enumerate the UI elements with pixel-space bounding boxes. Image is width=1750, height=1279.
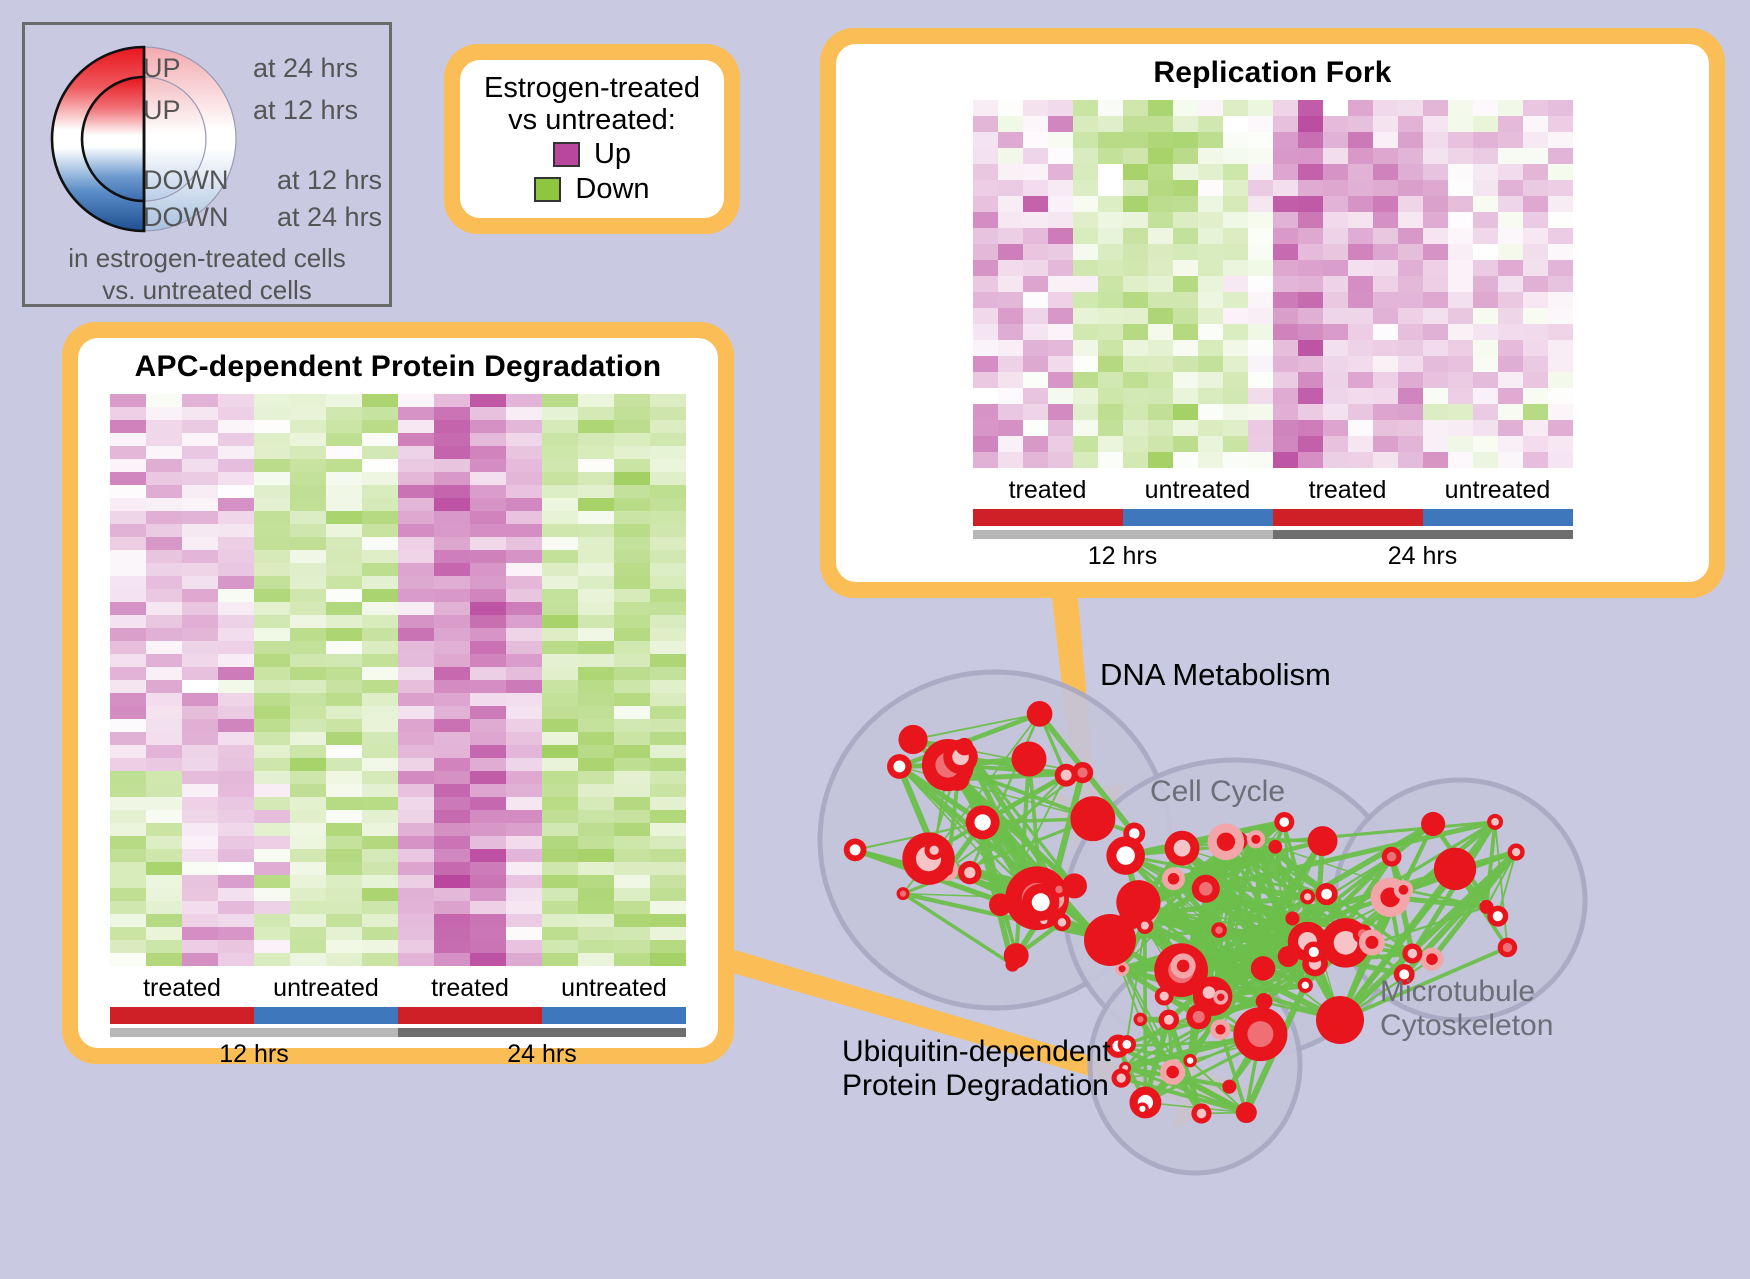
heatmap-cell — [973, 356, 998, 372]
heatmap-cell — [578, 940, 614, 953]
heatmap-cell — [470, 576, 506, 589]
network-node-core — [1119, 965, 1126, 972]
heatmap-cell — [470, 745, 506, 758]
heatmap-cell — [1323, 164, 1348, 180]
heatmap-cell — [1023, 404, 1048, 420]
heatmap-cell — [1098, 180, 1123, 196]
heatmap-cell — [1473, 340, 1498, 356]
heatmap-cell — [1273, 420, 1298, 436]
heatmap-cell — [398, 589, 434, 602]
heatmap-cell — [1398, 196, 1423, 212]
heatmap-cell — [506, 680, 542, 693]
network-node-core — [1141, 922, 1149, 930]
heatmap-cell — [1298, 180, 1323, 196]
heatmap-cell — [470, 667, 506, 680]
heatmap-cell — [614, 446, 650, 459]
heatmap-cell — [1223, 132, 1248, 148]
heatmap-cell — [542, 719, 578, 732]
heatmap-cell — [1023, 164, 1048, 180]
heatmap-cell — [254, 901, 290, 914]
heatmap-cell — [542, 407, 578, 420]
heatmap-cell — [650, 394, 686, 407]
heatmap-cell — [506, 693, 542, 706]
heatmap-cell — [1198, 100, 1223, 116]
heatmap-cell — [998, 420, 1023, 436]
heatmap-cell — [470, 810, 506, 823]
heatmap-cell — [470, 862, 506, 875]
network-node-core — [1077, 767, 1087, 777]
legend-item-up: Up — [553, 138, 631, 171]
heatmap-cell — [1448, 180, 1473, 196]
heatmap-cell — [1523, 388, 1548, 404]
heatmap-cell — [146, 836, 182, 849]
heatmap-cell — [362, 498, 398, 511]
up-down-legend-title-line2: vs untreated: — [484, 104, 700, 136]
heatmap-cell — [973, 324, 998, 340]
treatment-group-bar — [1123, 509, 1273, 526]
heatmap-cell — [1098, 372, 1123, 388]
heatmap-cell — [578, 758, 614, 771]
heatmap-cell — [434, 758, 470, 771]
heatmap-cell — [1123, 436, 1148, 452]
heatmap-cell — [218, 550, 254, 563]
heatmap-cell — [1048, 244, 1073, 260]
heatmap-cell — [1048, 372, 1073, 388]
treatment-group-label: untreated — [542, 974, 686, 1003]
heatmap-cell — [362, 914, 398, 927]
heatmap-cell — [506, 862, 542, 875]
heatmap-cell — [434, 472, 470, 485]
heatmap-cell — [1523, 164, 1548, 180]
heatmap-cell — [1498, 244, 1523, 260]
heatmap-cell — [1023, 340, 1048, 356]
heatmap-cell — [1098, 308, 1123, 324]
heatmap-cell — [1298, 212, 1323, 228]
heatmap-cell — [362, 732, 398, 745]
heatmap-cell — [326, 602, 362, 615]
heatmap-cell — [1423, 148, 1448, 164]
heatmap-cell — [218, 836, 254, 849]
network-node-core — [850, 844, 861, 855]
heatmap-cell — [614, 654, 650, 667]
heatmap-cell — [146, 615, 182, 628]
heatmap-cell — [146, 784, 182, 797]
heatmap-cell — [110, 667, 146, 680]
heatmap-cell — [650, 797, 686, 810]
heatmap-cell — [110, 771, 146, 784]
heatmap-cell — [398, 862, 434, 875]
heatmap-cell — [1123, 196, 1148, 212]
heatmap-cell — [1473, 324, 1498, 340]
heatmap-cell — [542, 641, 578, 654]
heatmap-cell — [1098, 244, 1123, 260]
heatmap-cell — [1148, 356, 1173, 372]
heatmap-cell — [434, 524, 470, 537]
heatmap-cell — [506, 394, 542, 407]
heatmap-cell — [434, 706, 470, 719]
heatmap-cell — [1173, 292, 1198, 308]
network-node-core — [1251, 835, 1260, 844]
heatmap-cell — [1298, 356, 1323, 372]
network-node-core — [1164, 1015, 1174, 1025]
heatmap-cell — [182, 576, 218, 589]
heatmap-cell — [1323, 260, 1348, 276]
heatmap-cell — [1323, 436, 1348, 452]
heatmap-cell — [290, 485, 326, 498]
heatmap-cell — [1323, 100, 1348, 116]
heatmap-cell — [1523, 244, 1548, 260]
heatmap-cell — [614, 706, 650, 719]
heatmap-cell — [1098, 404, 1123, 420]
network-edge — [1145, 926, 1146, 1103]
heatmap-cell — [614, 927, 650, 940]
heatmap-cell — [362, 849, 398, 862]
heatmap-cell — [290, 940, 326, 953]
treatment-group-label: treated — [1273, 476, 1423, 505]
heatmap-cell — [326, 459, 362, 472]
heatmap-cell — [326, 550, 362, 563]
heatmap-cell — [973, 340, 998, 356]
heatmap-cell — [1223, 452, 1248, 468]
legend-caption-line-1: in estrogen-treated cells — [25, 243, 389, 274]
heatmap-cell — [326, 407, 362, 420]
heatmap-cell — [434, 771, 470, 784]
network-node — [1316, 996, 1364, 1044]
heatmap-cell — [1173, 404, 1198, 420]
network-node-core — [1399, 885, 1409, 895]
heatmap-cell — [506, 940, 542, 953]
heatmap-cell — [506, 901, 542, 914]
heatmap-cell — [650, 693, 686, 706]
heatmap-cell — [614, 524, 650, 537]
heatmap-cell — [1373, 292, 1398, 308]
heatmap-cell — [1523, 196, 1548, 212]
heatmap-cell — [470, 706, 506, 719]
heatmap-cell — [434, 953, 470, 966]
heatmap-cell — [1173, 244, 1198, 260]
heatmap-cell — [542, 823, 578, 836]
heatmap-cell — [1098, 228, 1123, 244]
heatmap-cell — [362, 771, 398, 784]
heatmap-cell — [1023, 196, 1048, 212]
network-node-core — [1197, 1109, 1207, 1119]
heatmap-cell — [998, 340, 1023, 356]
heatmap-cell — [326, 706, 362, 719]
heatmap-cell — [254, 407, 290, 420]
legend-down-24-label: DOWN — [143, 202, 228, 233]
heatmap-cell — [1323, 132, 1348, 148]
network-node — [1012, 742, 1047, 777]
heatmap-cell — [1123, 164, 1148, 180]
heatmap-cell — [470, 719, 506, 732]
heatmap-cell — [506, 524, 542, 537]
heatmap-cell — [398, 524, 434, 537]
heatmap-cell — [434, 615, 470, 628]
heatmap-cell — [1423, 260, 1448, 276]
heatmap-cell — [650, 485, 686, 498]
heatmap-cell — [1098, 116, 1123, 132]
treatment-group-label: untreated — [254, 974, 398, 1003]
heatmap-cell — [1098, 100, 1123, 116]
heatmap-cell — [1223, 164, 1248, 180]
heatmap-cell — [1023, 212, 1048, 228]
heatmap-cell — [1073, 164, 1098, 180]
heatmap-cell — [1023, 292, 1048, 308]
heatmap-cell — [1148, 276, 1173, 292]
heatmap-cell — [614, 940, 650, 953]
heatmap-cell — [1373, 260, 1398, 276]
heatmap-cell — [110, 680, 146, 693]
heatmap-cell — [614, 563, 650, 576]
heatmap-cell — [614, 784, 650, 797]
network-node-core — [1215, 926, 1223, 934]
heatmap-cell — [1198, 372, 1223, 388]
heatmap-cell — [614, 667, 650, 680]
heatmap-cell — [1123, 372, 1148, 388]
heatmap-cell — [650, 901, 686, 914]
heatmap-cell — [218, 485, 254, 498]
heatmap-cell — [614, 641, 650, 654]
heatmap-cell — [1373, 164, 1398, 180]
heatmap-cell — [1173, 148, 1198, 164]
heatmap-cell — [218, 589, 254, 602]
heatmap-cell — [110, 823, 146, 836]
heatmap-cell — [542, 628, 578, 641]
heatmap-cell — [398, 680, 434, 693]
heatmap-cell — [362, 485, 398, 498]
heatmap-cell — [290, 732, 326, 745]
heatmap-cell — [973, 132, 998, 148]
heatmap-cell — [1048, 292, 1073, 308]
heatmap-cell — [1423, 164, 1448, 180]
heatmap-cell — [1198, 340, 1223, 356]
heatmap-cell — [182, 875, 218, 888]
heatmap-cell — [146, 680, 182, 693]
heatmap-cell — [1398, 436, 1423, 452]
network-node-core — [1217, 833, 1235, 851]
heatmap-cell — [1223, 404, 1248, 420]
heatmap-cell — [973, 116, 998, 132]
heatmap-cell — [578, 459, 614, 472]
heatmap-cell — [650, 758, 686, 771]
heatmap-cell — [362, 940, 398, 953]
heatmap-cell — [1348, 244, 1373, 260]
heatmap-cell — [326, 511, 362, 524]
heatmap-cell — [182, 862, 218, 875]
heatmap-cell — [110, 641, 146, 654]
heatmap-cell — [1323, 244, 1348, 260]
heatmap-cell — [1348, 292, 1373, 308]
heatmap-cell — [326, 485, 362, 498]
heatmap-cell — [470, 459, 506, 472]
up-down-legend-panel: Estrogen-treated vs untreated: Up Down — [444, 44, 740, 234]
heatmap-cell — [506, 797, 542, 810]
heatmap-cell — [182, 732, 218, 745]
heatmap-cell — [542, 550, 578, 563]
heatmap-cell — [1198, 148, 1223, 164]
heatmap-cell — [362, 797, 398, 810]
heatmap-cell — [146, 524, 182, 537]
heatmap-cell — [542, 680, 578, 693]
heatmap-cell — [1523, 324, 1548, 340]
heatmap-cell — [146, 914, 182, 927]
heatmap-cell — [650, 953, 686, 966]
heatmap-cell — [614, 511, 650, 524]
heatmap-cell — [470, 732, 506, 745]
heatmap-cell — [1398, 260, 1423, 276]
heatmap-cell — [1448, 260, 1473, 276]
heatmap-cell — [578, 810, 614, 823]
heatmap-cell — [1348, 180, 1373, 196]
heatmap-cell — [398, 537, 434, 550]
heatmap-cell — [1198, 132, 1223, 148]
heatmap-cell — [110, 693, 146, 706]
heatmap-cell — [578, 550, 614, 563]
heatmap-cell — [1098, 212, 1123, 228]
heatmap-cell — [1398, 404, 1423, 420]
network-node-core — [1217, 994, 1224, 1001]
heatmap-cell — [1423, 324, 1448, 340]
heatmap-cell — [1473, 356, 1498, 372]
heatmap-cell — [434, 693, 470, 706]
heatmap-cell — [1173, 356, 1198, 372]
heatmap-cell — [218, 927, 254, 940]
network-node — [1084, 914, 1136, 966]
heatmap-cell — [1348, 196, 1373, 212]
heatmap-cell — [1198, 164, 1223, 180]
heatmap-cell — [506, 953, 542, 966]
heatmap-cell — [614, 875, 650, 888]
heatmap-cell — [398, 719, 434, 732]
heatmap-cell — [434, 485, 470, 498]
heatmap-cell — [146, 862, 182, 875]
heatmap-cell — [973, 388, 998, 404]
heatmap-cell — [434, 849, 470, 862]
network-node-core — [1122, 1040, 1131, 1049]
heatmap-cell — [542, 472, 578, 485]
heatmap-cell — [578, 914, 614, 927]
heatmap-cell — [578, 628, 614, 641]
network-node-core — [1215, 1025, 1225, 1035]
heatmap-cell — [254, 654, 290, 667]
heatmap-cell — [1223, 340, 1248, 356]
heatmap-cell — [1548, 100, 1573, 116]
heatmap-cell — [1498, 196, 1523, 212]
heatmap-cell — [506, 602, 542, 615]
heatmap-cell — [1223, 260, 1248, 276]
heatmap-cell — [290, 433, 326, 446]
heatmap-cell — [218, 537, 254, 550]
heatmap-cell — [254, 784, 290, 797]
heatmap-cell — [398, 472, 434, 485]
heatmap-cell — [1273, 452, 1298, 468]
heatmap-cell — [1448, 420, 1473, 436]
heatmap-cell — [110, 537, 146, 550]
heatmap-cell — [1298, 132, 1323, 148]
heatmap-cell — [1248, 356, 1273, 372]
heatmap-cell — [326, 758, 362, 771]
heatmap-cell — [254, 550, 290, 563]
heatmap-cell — [1398, 132, 1423, 148]
heatmap-cell — [1073, 388, 1098, 404]
heatmap-cell — [1248, 420, 1273, 436]
heatmap-cell — [650, 940, 686, 953]
heatmap-cell — [1248, 180, 1273, 196]
legend-down-12-time: at 12 hrs — [277, 165, 382, 196]
cluster-label-ubiquitin-protein-degradation: Ubiquitin-dependent Protein Degradation — [842, 1035, 1111, 1102]
heatmap-cell — [434, 511, 470, 524]
heatmap-cell — [1223, 116, 1248, 132]
heatmap-cell — [1348, 228, 1373, 244]
heatmap-cell — [1398, 452, 1423, 468]
heatmap-cell — [542, 849, 578, 862]
heatmap-cell — [650, 719, 686, 732]
heatmap-cell — [1223, 292, 1248, 308]
heatmap-cell — [398, 693, 434, 706]
heatmap-cell — [1448, 148, 1473, 164]
heatmap-cell — [973, 292, 998, 308]
heatmap-cell — [578, 927, 614, 940]
heatmap-cell — [146, 901, 182, 914]
heatmap-cell — [1148, 308, 1173, 324]
heatmap-cell — [542, 576, 578, 589]
heatmap-cell — [650, 849, 686, 862]
heatmap-cell — [326, 420, 362, 433]
heatmap-cell — [1348, 260, 1373, 276]
heatmap-cell — [1273, 260, 1298, 276]
legend-item-down: Down — [534, 173, 649, 206]
heatmap-cell — [1223, 308, 1248, 324]
heatmap-cell — [578, 797, 614, 810]
heatmap-cell — [326, 719, 362, 732]
heatmap-cell — [1248, 260, 1273, 276]
heatmap-cell — [182, 524, 218, 537]
heatmap-cell — [326, 862, 362, 875]
heatmap-cell — [1123, 388, 1148, 404]
heatmap-cell — [218, 407, 254, 420]
heatmap-cell — [578, 602, 614, 615]
heatmap-cell — [146, 758, 182, 771]
heatmap-cell — [1498, 404, 1523, 420]
heatmap-cell — [1023, 388, 1048, 404]
heatmap-cell — [326, 472, 362, 485]
heatmap-cell — [110, 485, 146, 498]
heatmap-cell — [1348, 308, 1373, 324]
heatmap-cell — [326, 433, 362, 446]
heatmap-cell — [434, 433, 470, 446]
network-node-core — [1309, 947, 1319, 957]
heatmap-cell — [998, 260, 1023, 276]
heatmap-cell — [1523, 276, 1548, 292]
heatmap-cell — [398, 823, 434, 836]
heatmap-cell — [1248, 340, 1273, 356]
apc-panel: APC-dependent Protein Degradation treate… — [62, 322, 734, 1064]
heatmap-cell — [434, 498, 470, 511]
heatmap-cell — [470, 498, 506, 511]
heatmap-cell — [650, 680, 686, 693]
heatmap-cell — [506, 784, 542, 797]
heatmap-cell — [470, 927, 506, 940]
heatmap-cell — [1448, 100, 1473, 116]
heatmap-cell — [254, 602, 290, 615]
heatmap-cell — [182, 407, 218, 420]
heatmap-cell — [1348, 356, 1373, 372]
heatmap-cell — [1398, 340, 1423, 356]
heatmap-cell — [650, 628, 686, 641]
network-node — [956, 738, 974, 756]
heatmap-cell — [998, 148, 1023, 164]
heatmap-cell — [254, 940, 290, 953]
